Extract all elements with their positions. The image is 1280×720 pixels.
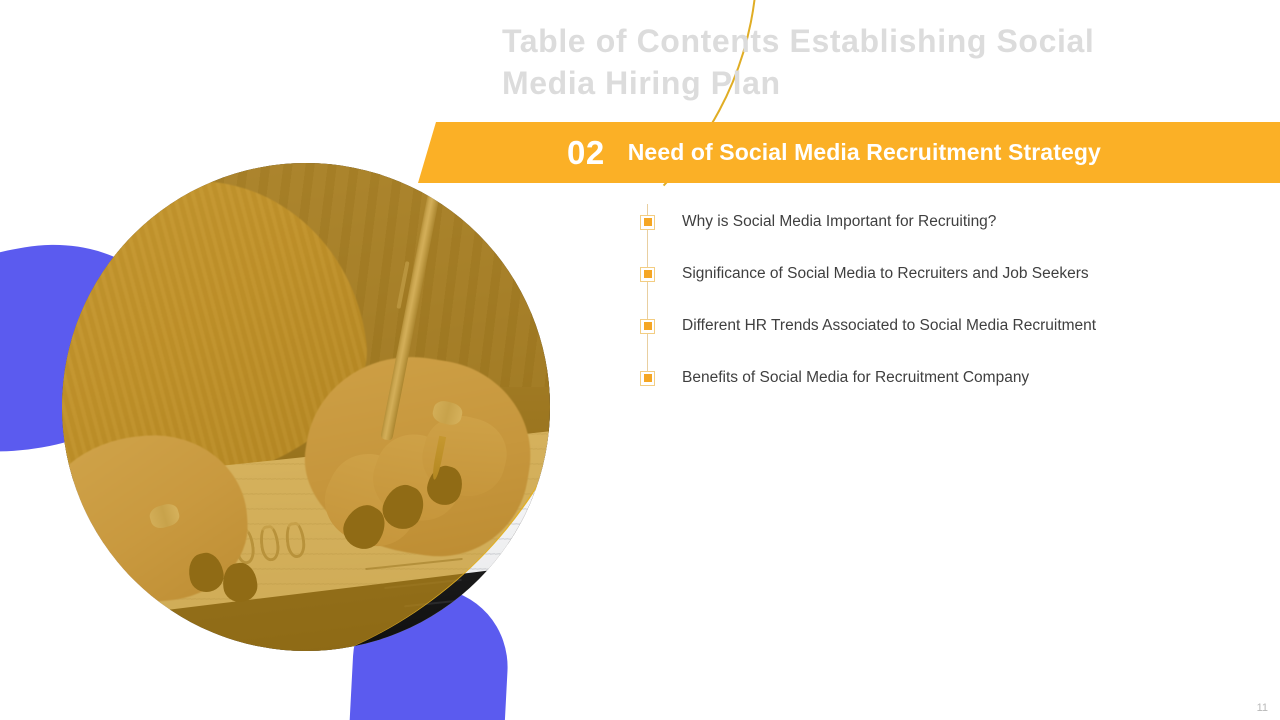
toc-connector-line	[647, 204, 648, 379]
photo-illustration	[62, 163, 550, 651]
page-number: 11	[1257, 702, 1268, 714]
list-item[interactable]: Significance of Social Media to Recruite…	[640, 248, 1240, 300]
section-banner: 02 Need of Social Media Recruitment Stra…	[418, 122, 1280, 183]
list-item-label: Different HR Trends Associated to Social…	[682, 317, 1096, 335]
bullet-square-icon	[640, 371, 655, 386]
list-item-label: Benefits of Social Media for Recruitment…	[682, 369, 1029, 387]
list-item[interactable]: Benefits of Social Media for Recruitment…	[640, 352, 1240, 404]
list-item-label: Significance of Social Media to Recruite…	[682, 265, 1089, 283]
section-heading: Need of Social Media Recruitment Strateg…	[628, 139, 1101, 166]
list-item[interactable]: Different HR Trends Associated to Social…	[640, 300, 1240, 352]
presentation-slide: Table of Contents Establishing Social Me…	[0, 0, 1280, 720]
list-item[interactable]: Why is Social Media Important for Recrui…	[640, 196, 1240, 248]
bullet-square-icon	[640, 267, 655, 282]
bullet-square-icon	[640, 319, 655, 334]
list-item-label: Why is Social Media Important for Recrui…	[682, 213, 996, 231]
table-of-contents-list: Why is Social Media Important for Recrui…	[640, 196, 1240, 404]
hero-photo-circle	[62, 163, 550, 651]
section-number: 02	[567, 134, 605, 172]
page-title: Table of Contents Establishing Social Me…	[502, 20, 1192, 104]
bullet-square-icon	[640, 215, 655, 230]
